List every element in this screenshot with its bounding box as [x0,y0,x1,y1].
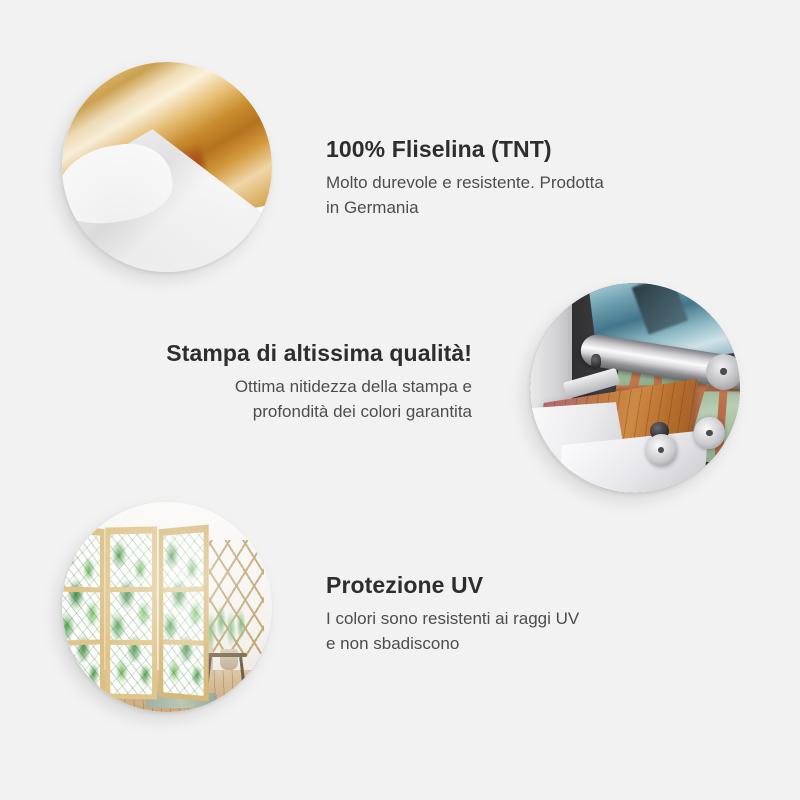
feature-image-fliselina [62,62,272,272]
feature-description-uv: I colori sono resistenti ai raggi UV e n… [326,607,676,656]
printer-wheel [694,417,726,449]
feature-description-stampa: Ottima nitidezza della stampa e profondi… [132,375,472,424]
feature-image-uv [62,502,272,712]
feature-text-uv: Protezione UV I colori sono resistenti a… [326,572,676,657]
feature-title-fliselina: 100% Fliselina (TNT) [326,136,676,162]
printer-wheel [646,434,678,466]
promo-infographic: 100% Fliselina (TNT) Molto durevole e re… [0,0,800,800]
printer-photo [530,283,740,493]
feature-text-stampa: Stampa di altissima qualità! Ottima niti… [132,340,472,425]
wallpaper-roll-photo [62,62,272,272]
interior-light-wash [62,502,272,712]
feature-title-uv: Protezione UV [326,572,676,598]
wallpaper-shading [62,62,272,272]
feature-text-fliselina: 100% Fliselina (TNT) Molto durevole e re… [326,136,676,221]
feature-title-stampa: Stampa di altissima qualità! [132,340,472,366]
feature-image-stampa [530,283,740,493]
printer-small-knob [591,354,602,369]
room-divider-photo [62,502,272,712]
feature-description-fliselina: Molto durevole e resistente. Prodotta in… [326,171,676,220]
